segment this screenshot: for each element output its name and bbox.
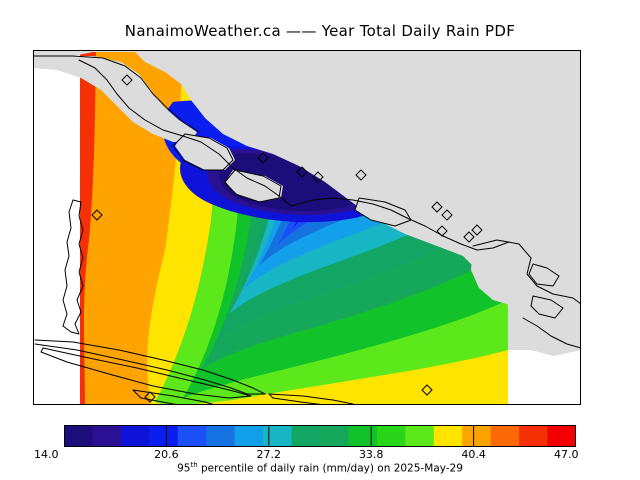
colorbar-band-12 — [405, 425, 434, 447]
colorbar-band-13 — [434, 425, 463, 447]
colorbar-bands — [64, 425, 576, 447]
colorbar-band-11 — [377, 425, 406, 447]
colorbar-label-1: 20.6 — [154, 448, 179, 461]
colorbar-band-0 — [64, 425, 93, 447]
colorbar-band-4 — [178, 425, 207, 447]
colorbar-label-0: 14.0 — [34, 448, 59, 461]
colorbar-tick-labels: 14.020.627.233.840.447.0 — [0, 448, 640, 462]
page-title: NanaimoWeather.ca —— Year Total Daily Ra… — [0, 22, 640, 40]
colorbar-band-9 — [320, 425, 349, 447]
colorbar-band-14 — [462, 425, 491, 447]
colorbar-band-17 — [548, 425, 576, 447]
colorbar-label-4: 40.4 — [461, 448, 486, 461]
figure-root: NanaimoWeather.ca —— Year Total Daily Ra… — [0, 0, 640, 480]
colorbar-band-10 — [348, 425, 377, 447]
colorbar-band-7 — [263, 425, 292, 447]
colorbar-caption: 95th percentile of daily rain (mm/day) o… — [0, 461, 640, 475]
colorbar-band-16 — [519, 425, 548, 447]
colorbar-band-3 — [149, 425, 178, 447]
colorbar-label-2: 27.2 — [257, 448, 282, 461]
caption-ordinal-suffix: th — [190, 461, 197, 469]
caption-number: 95 — [177, 463, 190, 475]
caption-text: percentile of daily rain (mm/day) on 202… — [198, 463, 463, 475]
colorbar-band-2 — [121, 425, 150, 447]
contour-map — [33, 50, 581, 405]
colorbar-label-3: 33.8 — [359, 448, 384, 461]
colorbar-svg[interactable] — [64, 425, 576, 447]
colorbar-band-5 — [206, 425, 235, 447]
colorbar-band-15 — [491, 425, 520, 447]
colorbar-band-1 — [92, 425, 121, 447]
colorbar-label-5: 47.0 — [554, 448, 579, 461]
colorbar-band-6 — [235, 425, 264, 447]
colorbar-band-8 — [292, 425, 321, 447]
map-panel — [33, 50, 581, 405]
land-grey-right-column — [508, 50, 581, 350]
colorbar[interactable] — [64, 425, 576, 447]
